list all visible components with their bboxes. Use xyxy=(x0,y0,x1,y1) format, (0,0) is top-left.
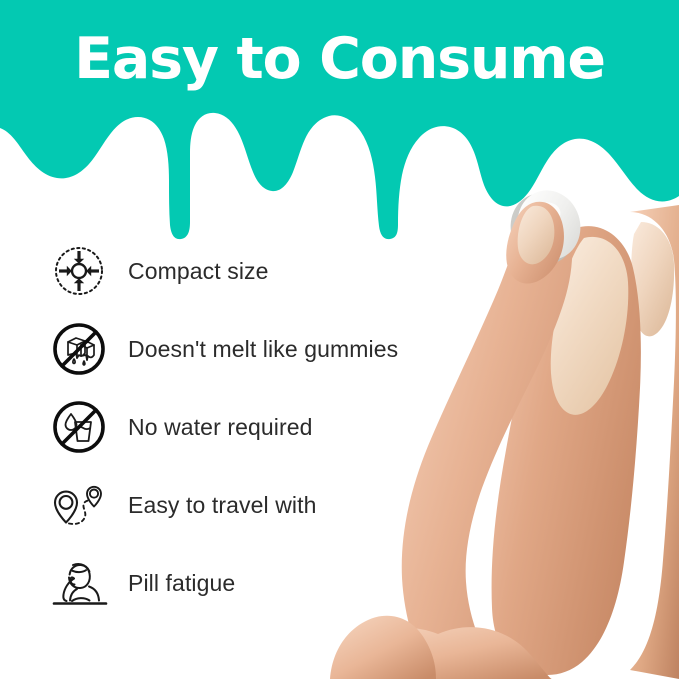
feature-item-pill-fatigue: Pill fatigue xyxy=(48,544,468,622)
product-feature-infographic: Easy to Consume xyxy=(0,0,679,679)
page-title: Easy to Consume xyxy=(0,30,679,90)
finger-middle xyxy=(492,226,641,675)
feature-item-no-melt: Doesn't melt like gummies xyxy=(48,310,468,388)
nail-middle xyxy=(551,237,629,415)
feature-item-travel: Easy to travel with xyxy=(48,466,468,544)
compact-size-icon xyxy=(48,240,110,302)
finger-far-right xyxy=(630,205,679,679)
feature-label: Pill fatigue xyxy=(128,570,235,597)
feature-label: Easy to travel with xyxy=(128,492,317,519)
feature-label: No water required xyxy=(128,414,313,441)
no-water-glass-icon xyxy=(48,396,110,458)
feature-label: Doesn't melt like gummies xyxy=(128,336,398,363)
nail-index-tip xyxy=(518,206,555,265)
feature-label: Compact size xyxy=(128,258,269,285)
nail-far-right xyxy=(631,222,674,336)
feature-item-no-water: No water required xyxy=(48,388,468,466)
feature-item-compact-size: Compact size xyxy=(48,232,468,310)
feature-list: Compact size xyxy=(48,232,468,622)
finger-index-tip xyxy=(506,202,564,284)
pill-highlight xyxy=(523,198,564,235)
knuckle-left xyxy=(330,616,436,679)
travel-route-pins-icon xyxy=(48,474,110,536)
pill-edge xyxy=(501,185,584,273)
no-melting-ice-icon xyxy=(48,318,110,380)
thumb-lower xyxy=(335,627,552,679)
tired-person-icon xyxy=(48,552,110,614)
pill-face xyxy=(509,182,590,268)
